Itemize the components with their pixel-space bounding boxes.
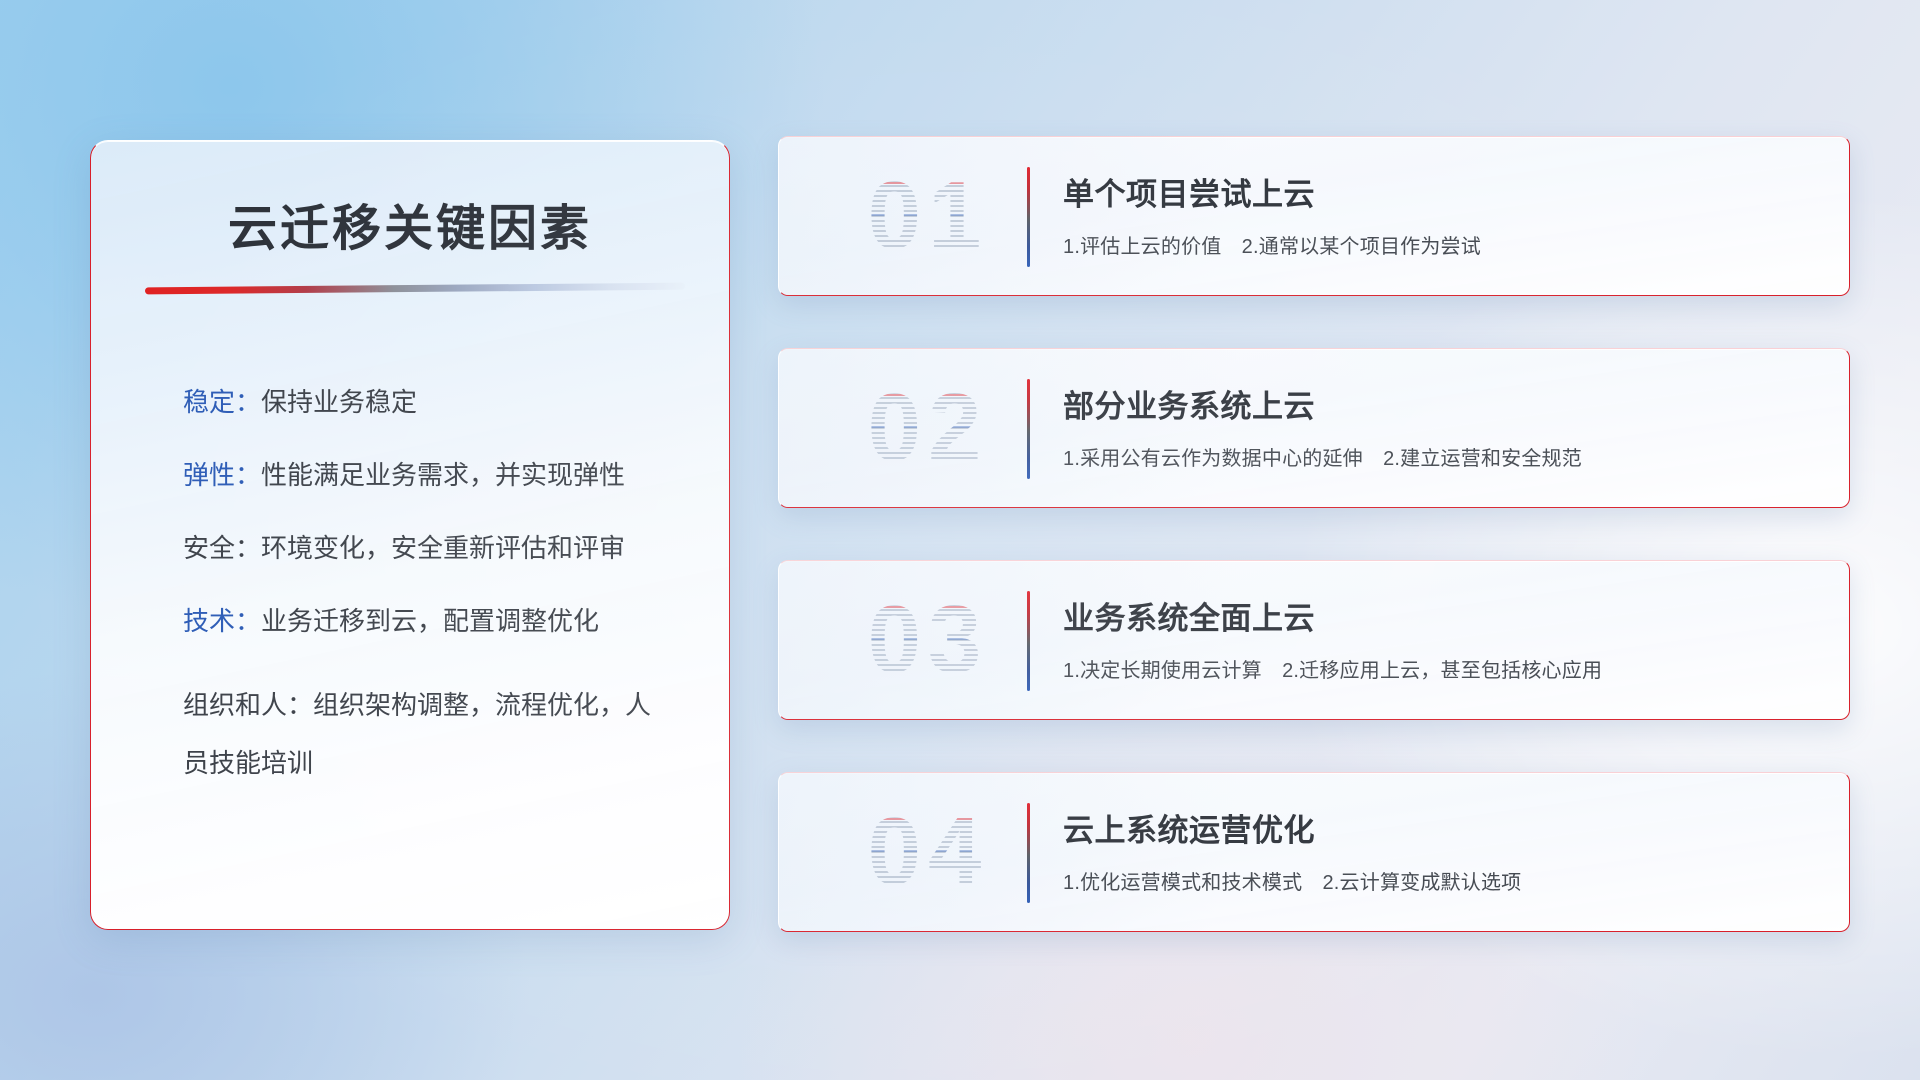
stage-number: 01 bbox=[823, 160, 1033, 272]
factor-key: 安全： bbox=[183, 533, 261, 563]
card-subtitle: 1.评估上云的价值 2.通常以某个项目作为尝试 bbox=[1063, 230, 1821, 259]
list-item: 稳定：保持业务稳定 bbox=[183, 384, 675, 422]
card-body: 单个项目尝试上云 1.评估上云的价值 2.通常以某个项目作为尝试 bbox=[1063, 169, 1821, 259]
stage-number-accent: 02 bbox=[823, 372, 1033, 484]
card-title: 单个项目尝试上云 bbox=[1063, 169, 1821, 214]
list-item: 技术：业务迁移到云，配置调整优化 bbox=[183, 603, 675, 641]
stage-number-accent: 01 bbox=[823, 160, 1033, 272]
factor-text: 环境变化，安全重新评估和评审 bbox=[261, 533, 625, 563]
stage-card[interactable]: 04 04 云上系统运营优化 1.优化运营模式和技术模式 2.云计算变成默认选项 bbox=[778, 772, 1850, 932]
stage-card[interactable]: 01 01 单个项目尝试上云 1.评估上云的价值 2.通常以某个项目作为尝试 bbox=[778, 136, 1850, 296]
factor-text: 保持业务稳定 bbox=[261, 387, 417, 417]
stage-card-list: 01 01 单个项目尝试上云 1.评估上云的价值 2.通常以某个项目作为尝试 0… bbox=[778, 136, 1850, 984]
card-divider bbox=[1027, 591, 1030, 691]
page-title: 云迁移关键因素 bbox=[145, 141, 675, 260]
card-title: 部分业务系统上云 bbox=[1063, 381, 1821, 426]
key-factors-panel: 云迁移关键因素 稳定：保持业务稳定 弹性：性能满足业务需求，并实现弹性 安全：环… bbox=[90, 140, 730, 930]
factor-list: 稳定：保持业务稳定 弹性：性能满足业务需求，并实现弹性 安全：环境变化，安全重新… bbox=[145, 292, 675, 793]
card-divider bbox=[1027, 379, 1030, 479]
factor-key: 组织和人： bbox=[183, 690, 313, 720]
card-divider bbox=[1027, 167, 1030, 267]
factor-text: 性能满足业务需求，并实现弹性 bbox=[261, 460, 625, 490]
slide-canvas: 云迁移关键因素 稳定：保持业务稳定 弹性：性能满足业务需求，并实现弹性 安全：环… bbox=[0, 0, 1920, 1080]
factor-text: 业务迁移到云，配置调整优化 bbox=[261, 606, 599, 636]
card-subtitle: 1.采用公有云作为数据中心的延伸 2.建立运营和安全规范 bbox=[1063, 442, 1821, 471]
factor-key: 稳定： bbox=[183, 387, 261, 417]
stage-card[interactable]: 03 03 业务系统全面上云 1.决定长期使用云计算 2.迁移应用上云，甚至包括… bbox=[778, 560, 1850, 720]
stage-number-accent: 04 bbox=[823, 796, 1033, 908]
stage-number-accent: 03 bbox=[823, 584, 1033, 696]
factor-key: 技术： bbox=[183, 606, 261, 636]
factor-key: 弹性： bbox=[183, 460, 261, 490]
card-divider bbox=[1027, 803, 1030, 903]
list-item: 安全：环境变化，安全重新评估和评审 bbox=[183, 530, 675, 568]
key-factors-panel-inner: 云迁移关键因素 稳定：保持业务稳定 弹性：性能满足业务需求，并实现弹性 安全：环… bbox=[91, 141, 729, 929]
card-subtitle: 1.决定长期使用云计算 2.迁移应用上云，甚至包括核心应用 bbox=[1063, 654, 1821, 683]
card-body: 业务系统全面上云 1.决定长期使用云计算 2.迁移应用上云，甚至包括核心应用 bbox=[1063, 593, 1821, 683]
list-item: 弹性：性能满足业务需求，并实现弹性 bbox=[183, 457, 675, 495]
card-title: 云上系统运营优化 bbox=[1063, 805, 1821, 850]
stage-number: 04 bbox=[823, 796, 1033, 908]
stage-card[interactable]: 02 02 部分业务系统上云 1.采用公有云作为数据中心的延伸 2.建立运营和安… bbox=[778, 348, 1850, 508]
stage-number: 02 bbox=[823, 372, 1033, 484]
card-body: 云上系统运营优化 1.优化运营模式和技术模式 2.云计算变成默认选项 bbox=[1063, 805, 1821, 895]
stage-number: 03 bbox=[823, 584, 1033, 696]
card-subtitle: 1.优化运营模式和技术模式 2.云计算变成默认选项 bbox=[1063, 866, 1821, 895]
card-body: 部分业务系统上云 1.采用公有云作为数据中心的延伸 2.建立运营和安全规范 bbox=[1063, 381, 1821, 471]
list-item: 组织和人：组织架构调整，流程优化，人员技能培训 bbox=[183, 676, 675, 793]
card-title: 业务系统全面上云 bbox=[1063, 593, 1821, 638]
